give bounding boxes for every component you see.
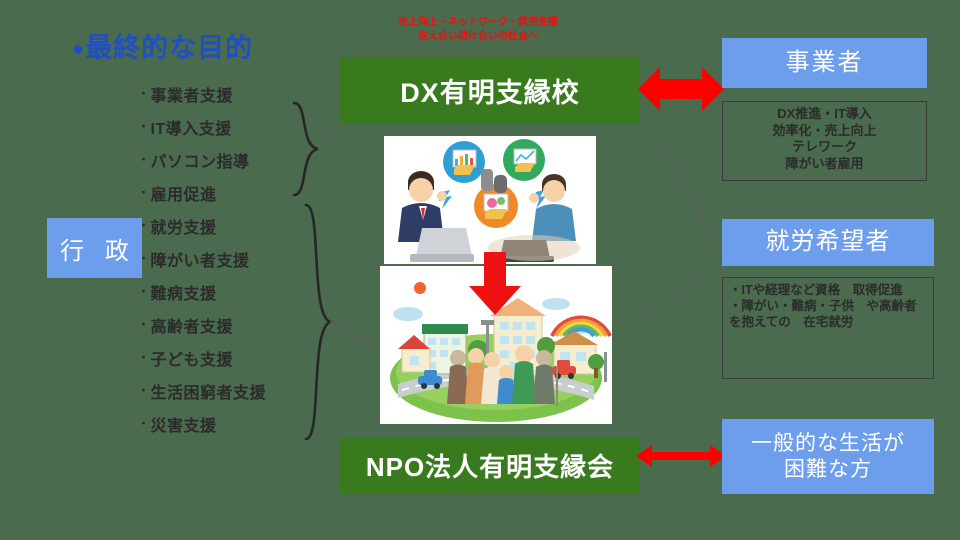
job-seeker-note-line: ・ITや経理など資格 取得促進 (729, 282, 927, 298)
list-item-label: 雇用促進 (151, 188, 217, 204)
list-bullet-icon: ・ (138, 188, 150, 199)
job-seeker-notes: ・ITや経理など資格 取得促進 ・障がい・難病・子供 や高齢者を抱えての 在宅就… (722, 277, 934, 379)
bullet-icon: ● (72, 38, 85, 60)
list-bullet-icon: ・ (138, 419, 150, 430)
list-item-label: 子ども支援 (151, 353, 234, 369)
list-bullet-icon: ・ (138, 122, 150, 133)
business-note-line: 障がい者雇用 (729, 156, 920, 173)
list-item-label: 高齢者支援 (151, 320, 234, 336)
list-bullet-icon: ・ (138, 287, 150, 298)
red-caption-line1: 売上向上・ネットワーク・就労支援 (378, 16, 578, 30)
double-arrow-right-top-icon (638, 63, 724, 115)
hardship-box[interactable]: 一般的な生活が 困難な方 (722, 419, 934, 494)
double-arrow-right-bottom-icon (636, 443, 726, 469)
list-bullet-icon: ・ (138, 353, 150, 364)
brace-upper-icon (288, 100, 324, 198)
down-arrow-icon (466, 252, 524, 316)
job-seeker-box[interactable]: 就労希望者 (722, 219, 934, 266)
hardship-line1: 一般的な生活が (751, 431, 905, 456)
business-note-line: テレワーク (729, 139, 920, 156)
list-bullet-icon: ・ (138, 320, 150, 331)
list-item: ・生活困窮者支援 (138, 377, 318, 410)
list-item-label: 難病支援 (151, 287, 217, 303)
list-bullet-icon: ・ (138, 155, 150, 166)
list-item-label: 事業者支援 (151, 89, 234, 105)
list-item-label: 就労支援 (151, 221, 217, 237)
list-bullet-icon: ・ (138, 386, 150, 397)
gov-chip: 行 政 (47, 218, 142, 278)
list-item: ・就労支援 (138, 212, 318, 245)
business-note-line: 効率化・売上向上 (729, 123, 920, 140)
list-item: ・難病支援 (138, 278, 318, 311)
diagram-canvas: ●最終的な目的 売上向上・ネットワーク・就労支援 支え合い助け合いの社会へ ・事… (0, 0, 960, 540)
list-item: ・子ども支援 (138, 344, 318, 377)
business-box[interactable]: 事業者 (722, 38, 927, 88)
red-caption-line2: 支え合い助け合いの社会へ (378, 30, 578, 44)
business-note-line: DX推進・IT導入 (729, 106, 920, 123)
dx-school-box[interactable]: DX有明支縁校 (340, 57, 640, 124)
npo-box[interactable]: NPO法人有明支縁会 (340, 437, 640, 494)
list-item: ・高齢者支援 (138, 311, 318, 344)
list-item-label: 災害支援 (151, 419, 217, 435)
list-item-label: 生活困窮者支援 (151, 386, 267, 402)
job-seeker-note-line: ・障がい・難病・子供 や高齢者を抱えての 在宅就労 (729, 298, 927, 330)
list-item: ・障がい者支援 (138, 245, 318, 278)
page-title: ●最終的な目的 (72, 26, 253, 65)
business-people-data-illustration (384, 136, 596, 264)
page-title-text: 最終的な目的 (85, 33, 253, 63)
list-item: ・災害支援 (138, 410, 318, 443)
list-item-label: パソコン指導 (151, 155, 250, 171)
hardship-line2: 困難な方 (751, 457, 905, 482)
brace-lower-icon (300, 202, 336, 442)
list-item-label: IT導入支援 (151, 122, 232, 138)
list-bullet-icon: ・ (138, 89, 150, 100)
business-notes: DX推進・IT導入 効率化・売上向上 テレワーク 障がい者雇用 (722, 101, 927, 181)
list-item-label: 障がい者支援 (151, 254, 250, 270)
red-caption: 売上向上・ネットワーク・就労支援 支え合い助け合いの社会へ (378, 16, 578, 43)
